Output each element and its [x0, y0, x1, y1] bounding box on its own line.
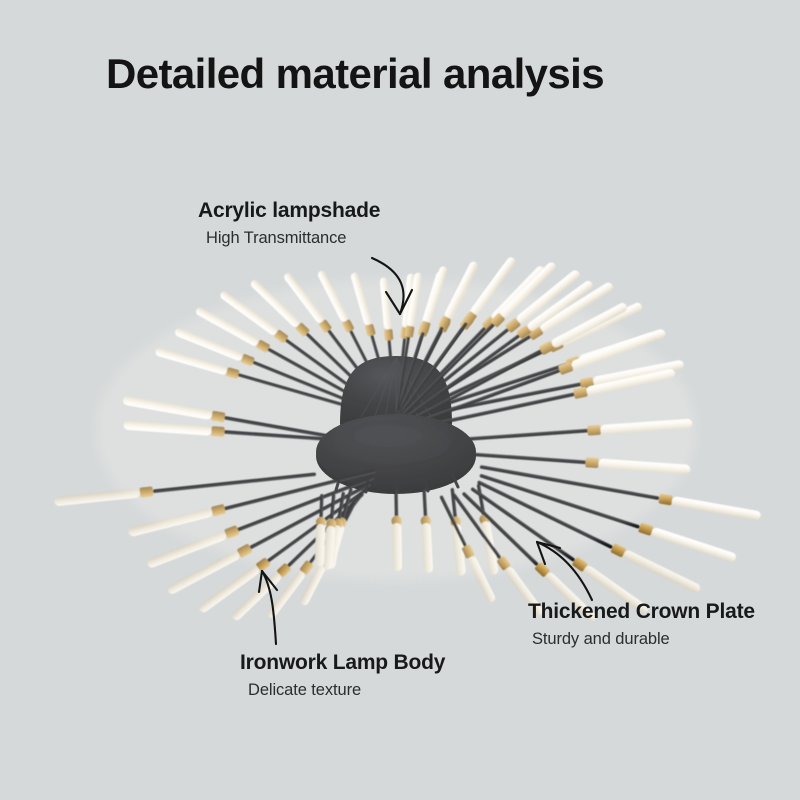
annotation-subtitle: Sturdy and durable [532, 630, 755, 648]
annotation-ironwork-lamp-body: Ironwork Lamp Body Delicate texture [240, 652, 445, 699]
lamp-product-illustration: Detailed material analysis Acrylic lamps… [0, 0, 800, 800]
annotation-title: Thickened Crown Plate [528, 601, 755, 623]
annotation-acrylic-lampshade: Acrylic lampshade High Transmittance [198, 200, 380, 247]
annotation-subtitle: High Transmittance [206, 229, 380, 247]
annotation-subtitle: Delicate texture [248, 681, 445, 699]
lamp-glow [96, 280, 696, 580]
page-title: Detailed material analysis [106, 50, 604, 98]
annotation-thickened-crown-plate: Thickened Crown Plate Sturdy and durable [528, 601, 755, 648]
annotation-title: Ironwork Lamp Body [240, 652, 445, 674]
annotation-title: Acrylic lampshade [198, 200, 380, 222]
